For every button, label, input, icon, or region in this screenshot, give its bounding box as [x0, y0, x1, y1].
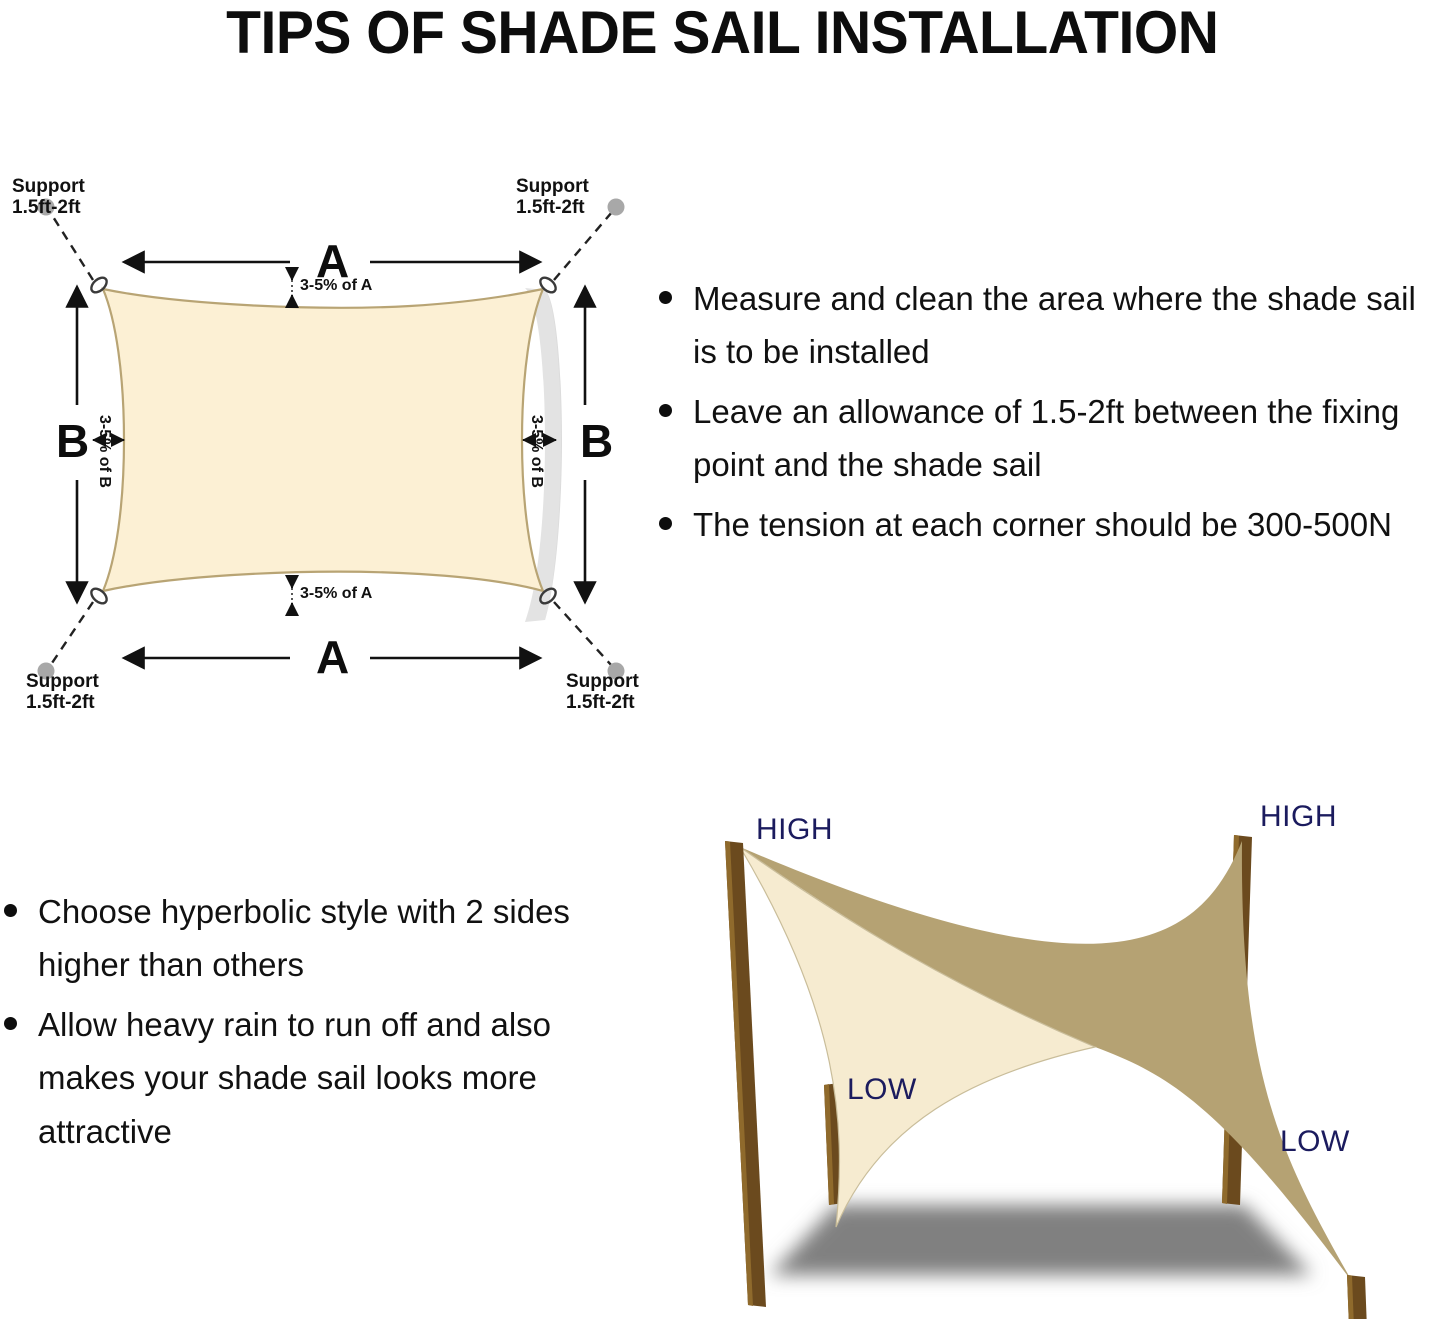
- dimension-letter-b-right: B: [580, 418, 613, 464]
- tip-item: Measure and clean the area where the sha…: [655, 272, 1445, 379]
- installation-tips-bottom-left-list: Choose hyperbolic style with 2 sides hig…: [0, 885, 625, 1164]
- curve-label-right: 3-5% of B: [527, 415, 545, 488]
- support-label-top-right: Support 1.5ft-2ft: [516, 176, 589, 219]
- support-label-bottom-right: Support 1.5ft-2ft: [566, 671, 639, 714]
- tip-text: The tension at each corner should be 300…: [693, 506, 1392, 543]
- shade-sail-body: [103, 289, 543, 591]
- dimension-letter-b-left: B: [56, 418, 89, 464]
- bullet-dot-icon: [4, 904, 17, 917]
- label-high-left: HIGH: [756, 815, 833, 845]
- tip-item: The tension at each corner should be 300…: [655, 498, 1445, 551]
- bullet-dot-icon: [659, 517, 672, 530]
- page-title: TIPS OF SHADE SAIL INSTALLATION: [226, 3, 1218, 63]
- support-label-top-left: Support 1.5ft-2ft: [12, 176, 85, 219]
- rectangle-sail-diagram: Support 1.5ft-2ft Support 1.5ft-2ft Supp…: [0, 150, 660, 740]
- tip-text: Leave an allowance of 1.5-2ft between th…: [693, 393, 1399, 483]
- page-title-bar: TIPS OF SHADE SAIL INSTALLATION: [0, 0, 1445, 66]
- tip-text: Measure and clean the area where the sha…: [693, 280, 1416, 370]
- tip-text: Choose hyperbolic style with 2 sides hig…: [38, 893, 570, 983]
- support-dot-top-right: [608, 199, 625, 216]
- tip-item: Leave an allowance of 1.5-2ft between th…: [655, 385, 1445, 492]
- post-high-left: [725, 841, 766, 1307]
- tip-item: Allow heavy rain to run off and also mak…: [0, 998, 625, 1158]
- curve-label-left: 3-5% of B: [95, 415, 113, 488]
- label-high-right: HIGH: [1260, 802, 1337, 832]
- curve-label-bottom: 3-5% of A: [300, 585, 372, 603]
- hyperbolic-sail-illustration: HIGH HIGH LOW LOW: [640, 775, 1445, 1319]
- label-low-right: LOW: [1280, 1127, 1350, 1157]
- dimension-letter-a-bottom: A: [316, 634, 349, 680]
- sail-lobe-cream: [740, 847, 1095, 1227]
- support-label-bottom-left: Support 1.5ft-2ft: [26, 671, 99, 714]
- label-low-left: LOW: [847, 1075, 917, 1105]
- post-low-right: [1347, 1275, 1373, 1319]
- curve-label-top: 3-5% of A: [300, 277, 372, 295]
- bullet-dot-icon: [659, 404, 672, 417]
- bullet-dot-icon: [659, 291, 672, 304]
- bullet-dot-icon: [4, 1017, 17, 1030]
- ground-shadow: [770, 1205, 1312, 1275]
- hyperbolic-illustration-graphic: [640, 775, 1445, 1319]
- tip-item: Choose hyperbolic style with 2 sides hig…: [0, 885, 625, 992]
- installation-tips-right-list: Measure and clean the area where the sha…: [655, 272, 1445, 557]
- tip-text: Allow heavy rain to run off and also mak…: [38, 1006, 551, 1150]
